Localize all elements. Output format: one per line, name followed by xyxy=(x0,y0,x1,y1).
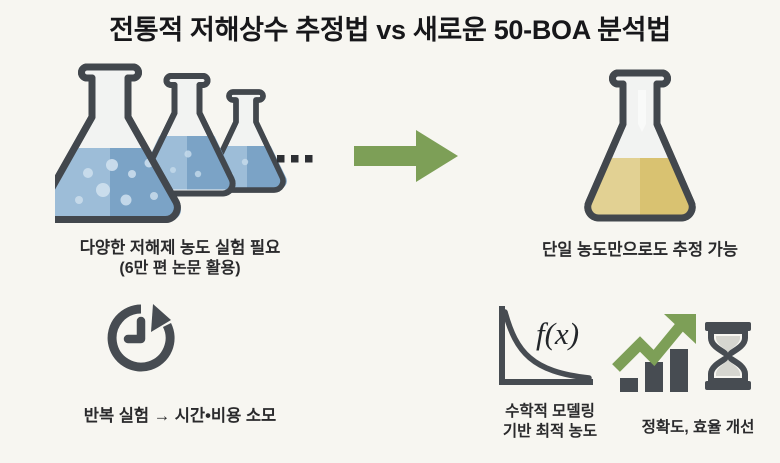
bar-2 xyxy=(645,362,663,392)
repeat-experiment-caption: 반복 실험 → 시간•비용 소모 xyxy=(15,406,345,427)
right-arrow-icon xyxy=(352,128,460,184)
left-flasks-caption: 다양한 저해제 농도 실험 필요 (6만 편 논문 활용) xyxy=(20,238,340,280)
model-caption-line1: 수학적 모델링 xyxy=(505,403,595,420)
left-flasks-caption-line1: 다양한 저해제 농도 실험 필요 xyxy=(80,239,281,257)
accuracy-caption: 정확도, 효율 개선 xyxy=(618,418,778,438)
model-caption: 수학적 모델링 기반 최적 농도 xyxy=(470,402,630,443)
right-flask-caption: 단일 농도만으로도 추정 가능 xyxy=(500,240,780,261)
left-flasks-caption-line2: (6만 편 논문 활용) xyxy=(20,259,340,279)
decay-curve-icon: f(x) xyxy=(494,306,594,390)
bar-3 xyxy=(670,349,688,392)
infographic-canvas: 전통적 저해상수 추정법 vs 새로운 50-BOA 분석법 xyxy=(0,0,780,463)
clock-repeat-icon xyxy=(103,300,179,376)
model-caption-line2: 기반 최적 농도 xyxy=(470,422,630,442)
fx-label: f(x) xyxy=(536,316,579,351)
hourglass-icon xyxy=(700,320,756,392)
multiple-flasks-icon xyxy=(55,62,315,227)
bar-1 xyxy=(620,378,638,392)
page-title: 전통적 저해상수 추정법 vs 새로운 50-BOA 분석법 xyxy=(0,8,780,47)
bar-chart-up-icon xyxy=(612,308,702,393)
ellipsis-dots xyxy=(277,155,313,163)
single-flask-icon xyxy=(580,68,700,233)
